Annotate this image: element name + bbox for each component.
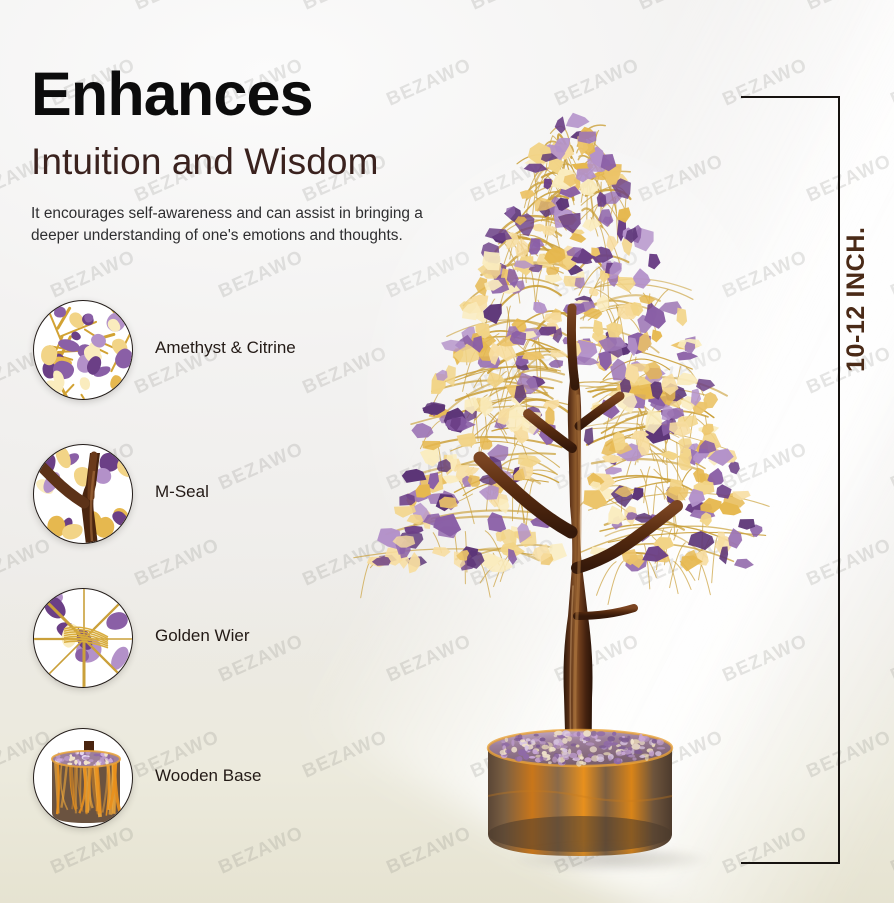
feature-thumbnail-amethyst-citrine — [33, 300, 133, 400]
feature-callout-golden-wier: Golden Wier — [33, 588, 133, 688]
base-drop-shadow — [482, 842, 740, 876]
feature-thumbnail-golden-wier — [33, 588, 133, 688]
body-copy: It encourages self-awareness and can ass… — [31, 203, 431, 247]
trunk-joint — [34, 445, 132, 543]
wooden-base-thumb — [34, 729, 132, 827]
gold-wire — [114, 301, 132, 311]
gold-wire — [47, 301, 84, 307]
feature-label-amethyst-citrine: Amethyst & Citrine — [155, 338, 296, 358]
feature-callout-wooden-base: Wooden Base — [33, 728, 133, 828]
dimension-bracket — [741, 96, 840, 864]
feature-callout-amethyst-citrine: Amethyst & Citrine — [33, 300, 133, 400]
feature-thumbnail-wooden-base — [33, 728, 133, 828]
bracket-bottom-rule — [741, 862, 840, 864]
gem-chip — [78, 375, 92, 391]
infographic-canvas: BEZAWOBEZAWOBEZAWOBEZAWOBEZAWOBEZAWOBEZA… — [0, 0, 894, 903]
dimension-label: 10-12 INCH. — [842, 226, 871, 372]
product-image-gemstone-tree — [372, 96, 782, 886]
feature-label-golden-wier: Golden Wier — [155, 626, 249, 646]
bracket-top-rule — [741, 96, 840, 98]
gem-chip — [54, 306, 66, 318]
page-subtitle: Intuition and Wisdom — [31, 143, 379, 182]
amethyst-chip — [566, 113, 590, 128]
amethyst-chip — [555, 116, 566, 133]
feature-label-m-seal: M-Seal — [155, 482, 209, 502]
feature-thumbnail-m-seal — [33, 444, 133, 544]
gold-wire — [80, 394, 100, 399]
page-title: Enhances — [31, 64, 313, 125]
bracket-vertical-rule — [838, 96, 840, 864]
feature-callout-m-seal: M-Seal — [33, 444, 133, 544]
feature-label-wooden-base: Wooden Base — [155, 766, 261, 786]
gold-wire-twist — [34, 589, 132, 687]
